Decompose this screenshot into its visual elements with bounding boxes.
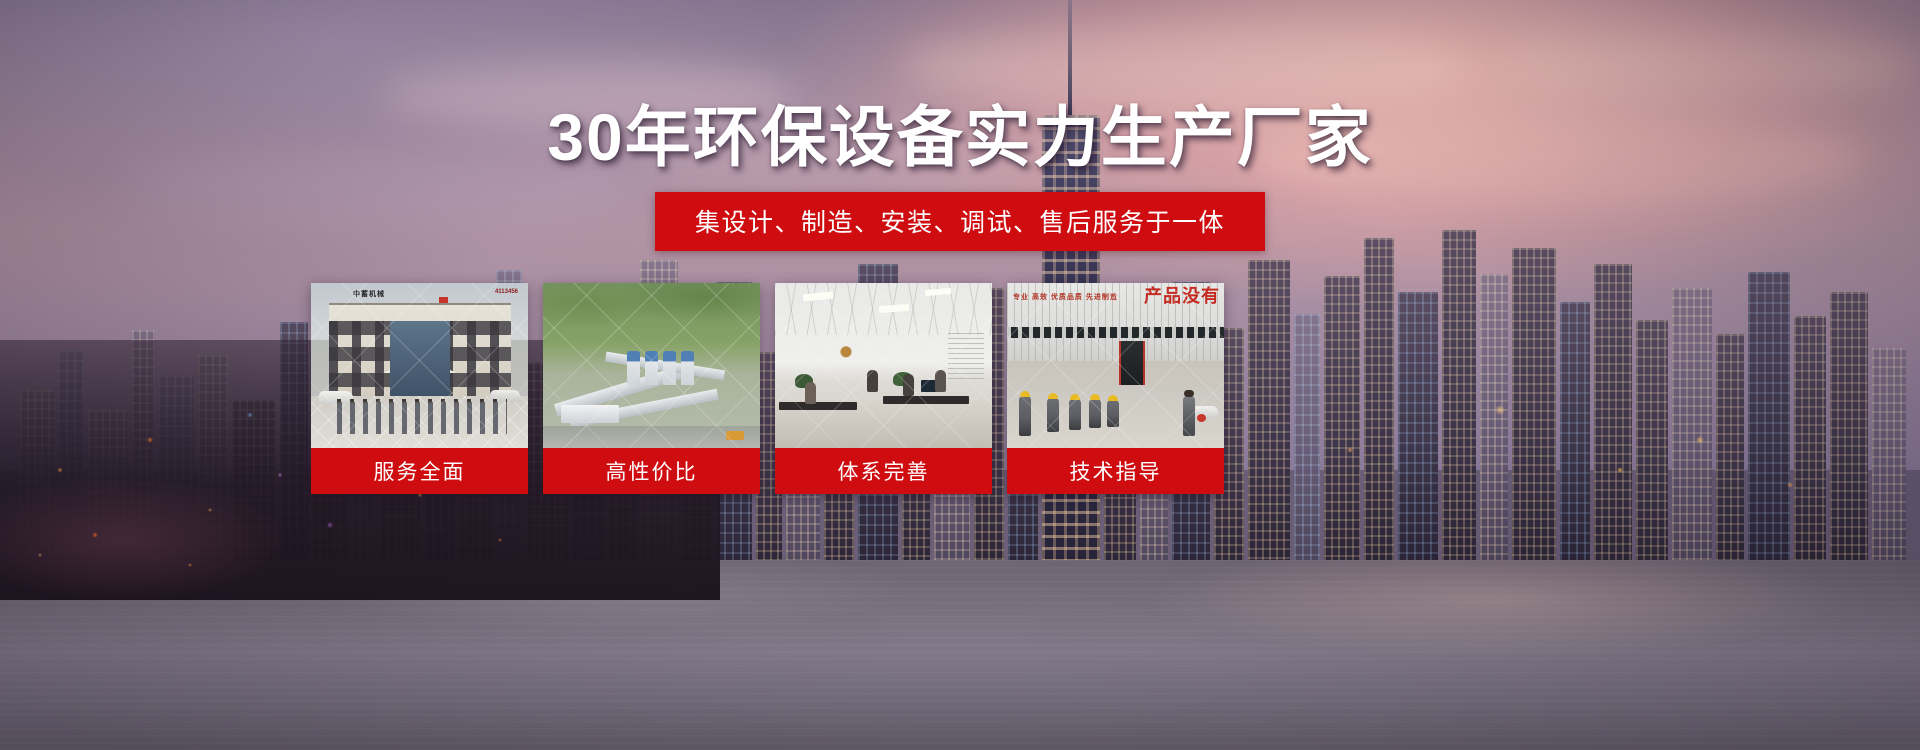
feature-card[interactable]: 中蓄机械 4113456 服务全面 [311,283,528,494]
company-building-photo: 中蓄机械 4113456 [311,283,528,448]
feature-card[interactable]: 专业 高效 优质品质 先进制造 产品没有 技术指导 [1007,283,1224,494]
feature-card-caption: 体系完善 [775,448,992,494]
feature-card[interactable]: 体系完善 [775,283,992,494]
building-phone-text: 4113456 [495,289,518,295]
building-sign-text: 中蓄机械 [353,289,385,299]
feature-card-caption: 高性价比 [543,448,760,494]
factory-workers-photo: 专业 高效 优质品质 先进制造 产品没有 [1007,283,1224,448]
feature-card-caption: 技术指导 [1007,448,1224,494]
hero-banner: 30年环保设备实力生产厂家 集设计、制造、安装、调试、售后服务于一体 中蓄机械 … [0,0,1920,750]
feature-card[interactable]: 高性价比 [543,283,760,494]
subtitle-container: 集设计、制造、安装、调试、售后服务于一体 [0,192,1920,251]
page-title: 30年环保设备实力生产厂家 [0,104,1920,170]
warehouse-banner-text: 产品没有 [1144,287,1220,305]
warehouse-slogan-text: 专业 高效 优质品质 先进制造 [1013,293,1118,304]
aerial-plant-photo [543,283,760,448]
office-interior-photo [775,283,992,448]
feature-card-list: 中蓄机械 4113456 服务全面 [311,283,1224,494]
feature-card-caption: 服务全面 [311,448,528,494]
subtitle-badge: 集设计、制造、安装、调试、售后服务于一体 [655,192,1265,251]
